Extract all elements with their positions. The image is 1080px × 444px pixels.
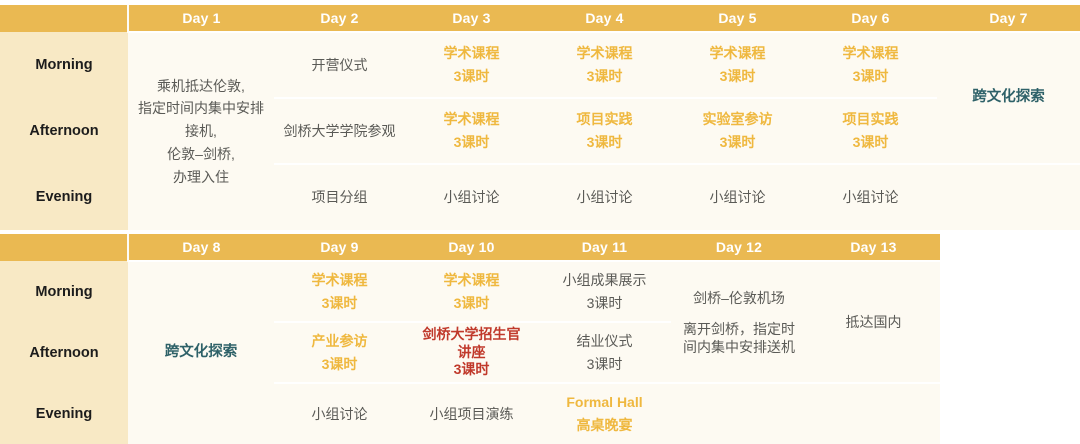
day9-afternoon-hours: 3课时: [274, 353, 405, 376]
cell-day13-evening: [807, 383, 940, 444]
day10-morning-hours: 3课时: [405, 292, 538, 315]
cell-day13-allday: 抵达国内: [807, 261, 940, 383]
cell-day3-morning: 学术课程 3课时: [405, 32, 538, 98]
day11-afternoon-hours: 3课时: [538, 353, 671, 376]
day12-spacer: [671, 310, 807, 321]
row-label-evening-2: Evening: [0, 383, 128, 444]
cell-day3-evening: 小组讨论: [405, 164, 538, 230]
day3-morning-hours: 3课时: [405, 65, 538, 88]
day11-morning-hours: 3课时: [538, 292, 671, 315]
day10-afternoon-title-line1: 剑桥大学招生官: [405, 326, 538, 344]
day7-afternoon-label: 跨文化探索: [937, 86, 1080, 109]
day5-afternoon-title: 实验室参访: [671, 108, 804, 131]
cell-day7-evening: [937, 164, 1080, 230]
cell-day8-allday: 跨文化探索: [128, 261, 274, 444]
row-label-afternoon-2: Afternoon: [0, 322, 128, 383]
cell-day9-afternoon: 产业参访 3课时: [274, 322, 405, 383]
row-label-morning: Morning: [0, 32, 128, 98]
cell-day3-afternoon: 学术课程 3课时: [405, 98, 538, 164]
header-corner-cell-2: [0, 234, 128, 261]
day11-evening-title: Formal Hall: [538, 391, 671, 414]
day1-line-4: 伦敦–剑桥,: [128, 143, 274, 166]
day11-evening-sub: 高桌晚宴: [538, 414, 671, 437]
day1-line-1: 乘机抵达伦敦,: [128, 75, 274, 98]
cell-day6-morning: 学术课程 3课时: [804, 32, 937, 98]
table-one-header-row: Day 1 Day 2 Day 3 Day 4 Day 5 Day 6 Day …: [0, 5, 1080, 32]
day8-allday-label: 跨文化探索: [128, 341, 274, 364]
day4-afternoon-hours: 3课时: [538, 131, 671, 154]
day10-evening-label: 小组项目演练: [405, 403, 538, 426]
cell-day9-evening: 小组讨论: [274, 383, 405, 444]
day4-afternoon-title: 项目实践: [538, 108, 671, 131]
column-header-day-10[interactable]: Day 10: [405, 234, 538, 261]
day12-line-2: 离开剑桥，指定时: [671, 321, 807, 339]
day4-morning-hours: 3课时: [538, 65, 671, 88]
cell-day2-morning: 开营仪式: [274, 32, 405, 98]
column-header-day-1[interactable]: Day 1: [128, 5, 274, 32]
day12-line-3: 间内集中安排送机: [671, 339, 807, 357]
schedule-table-days-8-13: Day 8 Day 9 Day 10 Day 11 Day 12 Day 13 …: [0, 234, 940, 444]
day10-afternoon-title-line2: 讲座: [405, 344, 538, 362]
day2-afternoon-label: 剑桥大学学院参观: [274, 120, 405, 143]
column-header-day-12[interactable]: Day 12: [671, 234, 807, 261]
header-corner-cell: [0, 5, 128, 32]
cell-day6-evening: 小组讨论: [804, 164, 937, 230]
day6-afternoon-title: 项目实践: [804, 108, 937, 131]
cell-day2-evening: 项目分组: [274, 164, 405, 230]
cell-day10-evening: 小组项目演练: [405, 383, 538, 444]
schedule-table-days-1-7: Day 1 Day 2 Day 3 Day 4 Day 5 Day 6 Day …: [0, 5, 1080, 230]
day11-afternoon-title: 结业仪式: [538, 330, 671, 353]
day12-line-1: 剑桥–伦敦机场: [671, 287, 807, 310]
day5-morning-title: 学术课程: [671, 42, 804, 65]
day9-morning-title: 学术课程: [274, 269, 405, 292]
table-row: Morning 乘机抵达伦敦, 指定时间内集中安排 接机, 伦敦–剑桥, 办理入…: [0, 32, 1080, 98]
day6-morning-hours: 3课时: [804, 65, 937, 88]
cell-day4-morning: 学术课程 3课时: [538, 32, 671, 98]
column-header-day-5[interactable]: Day 5: [671, 5, 804, 32]
cell-day10-morning: 学术课程 3课时: [405, 261, 538, 322]
day3-evening-label: 小组讨论: [405, 186, 538, 209]
day10-afternoon-hours: 3课时: [405, 361, 538, 379]
column-header-day-4[interactable]: Day 4: [538, 5, 671, 32]
cell-day5-morning: 学术课程 3课时: [671, 32, 804, 98]
cell-day4-evening: 小组讨论: [538, 164, 671, 230]
day5-afternoon-hours: 3课时: [671, 131, 804, 154]
row-label-afternoon: Afternoon: [0, 98, 128, 164]
day1-line-2: 指定时间内集中安排: [128, 97, 274, 120]
day4-morning-title: 学术课程: [538, 42, 671, 65]
cell-day7-afternoon: 跨文化探索: [937, 32, 1080, 164]
column-header-day-11[interactable]: Day 11: [538, 234, 671, 261]
cell-day11-morning: 小组成果展示 3课时: [538, 261, 671, 322]
day2-morning-label: 开营仪式: [274, 54, 405, 77]
column-header-day-3[interactable]: Day 3: [405, 5, 538, 32]
day1-line-5: 办理入住: [128, 166, 274, 189]
column-header-day-8[interactable]: Day 8: [128, 234, 274, 261]
cell-day5-afternoon: 实验室参访 3课时: [671, 98, 804, 164]
day3-afternoon-hours: 3课时: [405, 131, 538, 154]
day13-allday-label: 抵达国内: [807, 311, 940, 334]
cell-day2-afternoon: 剑桥大学学院参观: [274, 98, 405, 164]
day6-evening-label: 小组讨论: [804, 186, 937, 209]
cell-day11-evening: Formal Hall 高桌晚宴: [538, 383, 671, 444]
schedule-page: Day 1 Day 2 Day 3 Day 4 Day 5 Day 6 Day …: [0, 0, 1080, 444]
column-header-day-6[interactable]: Day 6: [804, 5, 937, 32]
day6-afternoon-hours: 3课时: [804, 131, 937, 154]
cell-day9-morning: 学术课程 3课时: [274, 261, 405, 322]
cell-day6-afternoon: 项目实践 3课时: [804, 98, 937, 164]
cell-day10-afternoon: 剑桥大学招生官 讲座 3课时: [405, 322, 538, 383]
column-header-day-2[interactable]: Day 2: [274, 5, 405, 32]
day5-evening-label: 小组讨论: [671, 186, 804, 209]
day6-morning-title: 学术课程: [804, 42, 937, 65]
day1-line-3: 接机,: [128, 120, 274, 143]
day10-morning-title: 学术课程: [405, 269, 538, 292]
cell-day4-afternoon: 项目实践 3课时: [538, 98, 671, 164]
cell-day1-allday: 乘机抵达伦敦, 指定时间内集中安排 接机, 伦敦–剑桥, 办理入住: [128, 32, 274, 230]
day4-evening-label: 小组讨论: [538, 186, 671, 209]
cell-day11-afternoon: 结业仪式 3课时: [538, 322, 671, 383]
column-header-day-9[interactable]: Day 9: [274, 234, 405, 261]
day2-evening-label: 项目分组: [274, 186, 405, 209]
cell-day5-evening: 小组讨论: [671, 164, 804, 230]
cell-day12-travel: 剑桥–伦敦机场 离开剑桥，指定时 间内集中安排送机: [671, 261, 807, 383]
cell-day12-evening: [671, 383, 807, 444]
day9-morning-hours: 3课时: [274, 292, 405, 315]
column-header-day-13[interactable]: Day 13: [807, 234, 940, 261]
column-header-day-7[interactable]: Day 7: [937, 5, 1080, 32]
day9-afternoon-title: 产业参访: [274, 330, 405, 353]
day5-morning-hours: 3课时: [671, 65, 804, 88]
table-row: Morning 跨文化探索 学术课程 3课时 学术课程 3课时 小组成果展示 3…: [0, 261, 940, 322]
day9-evening-label: 小组讨论: [274, 403, 405, 426]
day3-afternoon-title: 学术课程: [405, 108, 538, 131]
row-label-morning-2: Morning: [0, 261, 128, 322]
day3-morning-title: 学术课程: [405, 42, 538, 65]
table-two-header-row: Day 8 Day 9 Day 10 Day 11 Day 12 Day 13: [0, 234, 940, 261]
row-label-evening: Evening: [0, 164, 128, 230]
day11-morning-title: 小组成果展示: [538, 269, 671, 292]
